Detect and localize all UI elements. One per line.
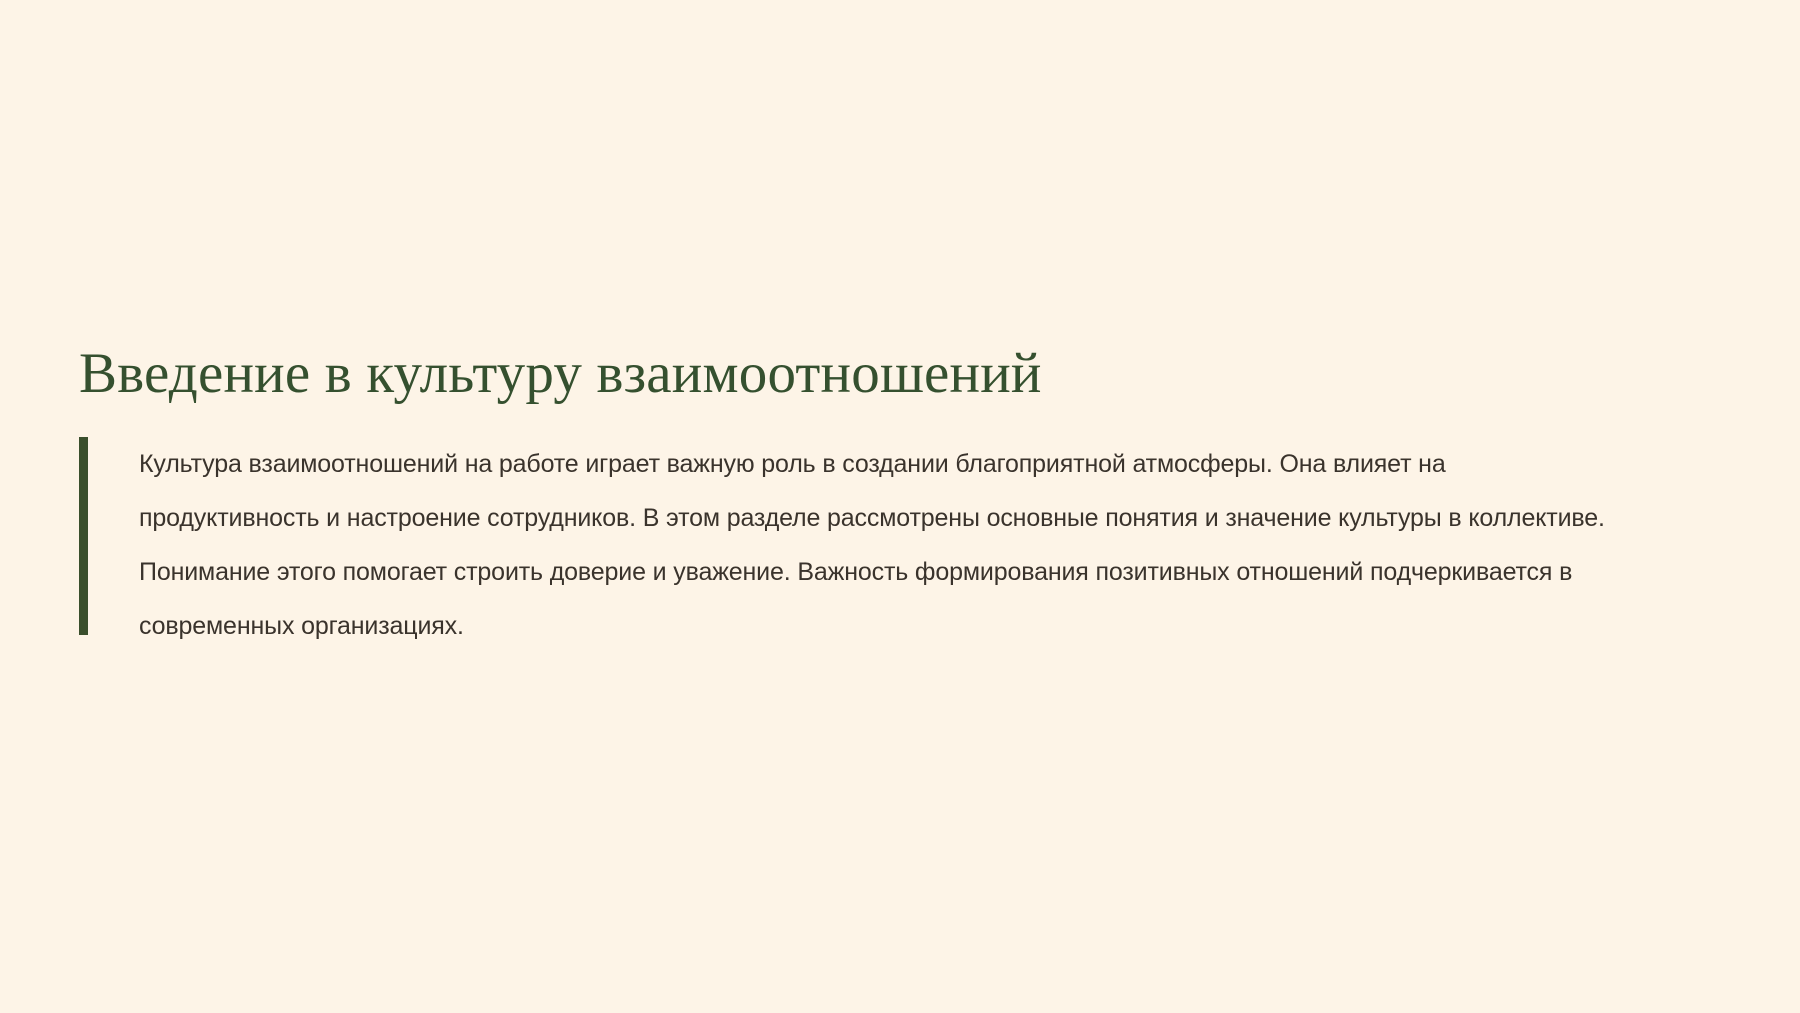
page-title: Введение в культуру взаимоотношений: [79, 338, 1729, 410]
content-block: Введение в культуру взаимоотношений Куль…: [79, 338, 1729, 653]
slide-page: Введение в культуру взаимоотношений Куль…: [0, 0, 1800, 1013]
accent-bar: [79, 437, 88, 635]
quote-block: Культура взаимоотношений на работе играе…: [79, 437, 1729, 653]
body-paragraph: Культура взаимоотношений на работе играе…: [139, 437, 1624, 653]
